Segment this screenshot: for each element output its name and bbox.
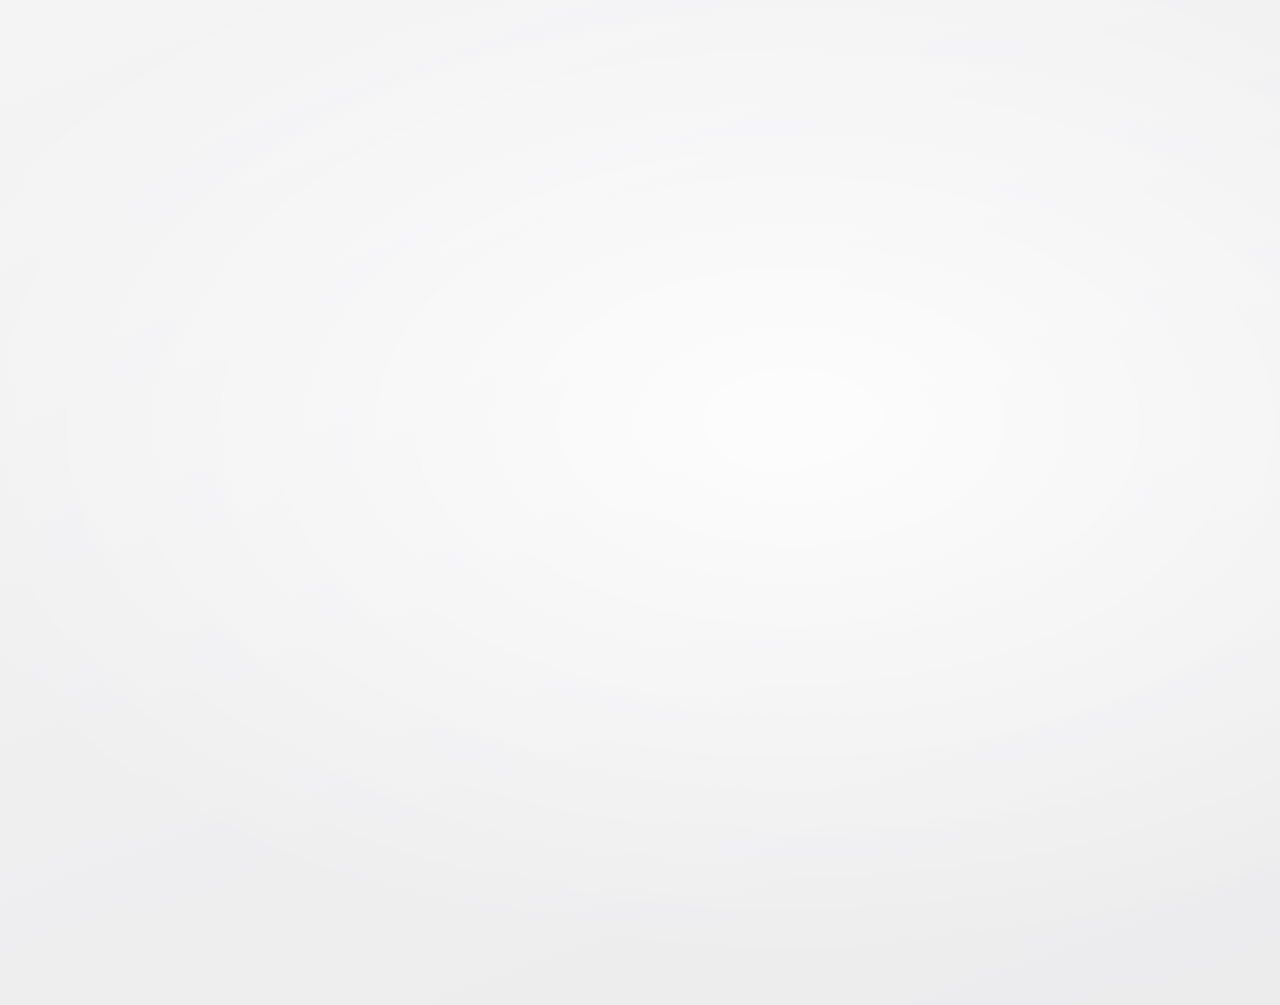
blue-note-right-line1: • Personalized xyxy=(932,660,1142,679)
banner-right-note: • Personalized Customization xyxy=(1040,95,1194,138)
banner-tagline: Extraordinary Through Technology. xyxy=(304,99,709,132)
arrow-right-icon xyxy=(1050,777,1168,818)
blue-headline-line4: Technology. xyxy=(760,859,1180,900)
poster-bullet-note: • Personalized Customization xyxy=(120,604,450,670)
blue-headline-line2: Professionalism xyxy=(760,777,1180,818)
blue-headline-line3: Extraordinary Through xyxy=(760,818,1180,859)
blue-headline-line2-text: Professionalism xyxy=(760,776,1026,819)
blue-card-back: • Layer by layer protection • Personaliz… xyxy=(736,614,1185,900)
blue-headline-line1: Crafting Beauty With xyxy=(760,736,1180,777)
blue-note-left-line1: • Layer by layer xyxy=(760,660,892,679)
banner-right-note-line2: Customization xyxy=(1040,116,1194,138)
business-card-brand-line: EXTRAORDINARY THROUGH TECHNOLOGY. xyxy=(765,282,914,311)
blue-card-note-left: • Layer by layer protection xyxy=(760,660,892,698)
blue-card-headline: Crafting Beauty With Professionalism Ext… xyxy=(760,736,1180,900)
business-card-contact-block: +1 123 5555 666 78 @CLICK KANGTAI.COM.CN xyxy=(1054,282,1161,326)
arrow-right-icon xyxy=(70,784,302,856)
kangtai-monogram-icon xyxy=(736,338,1185,532)
brand-line-2: THROUGH TECHNOLOGY. xyxy=(765,297,914,312)
banner-left-note: Layer by layer protection xyxy=(0,97,128,140)
contact-handle: @CLICK xyxy=(1054,297,1161,312)
brand-line-1: EXTRAORDINARY xyxy=(765,282,914,297)
card-caption-cutting-edge: CUTTING-EDGE xyxy=(763,482,847,494)
poster-bullet-line2: Customization xyxy=(120,637,450,670)
business-card-front: EXTRAORDINARY THROUGH TECHNOLOGY. +1 123… xyxy=(736,237,1185,532)
poster-headline-line2: onalism xyxy=(0,784,570,856)
poster-glass-artwork xyxy=(0,154,273,372)
contact-phone: +1 123 5555 666 78 xyxy=(1054,282,1161,297)
poster-headline-line1: g Beauty With xyxy=(0,712,570,784)
poster-headline-line2-text: onalism xyxy=(0,781,36,858)
poster-bullet-line1: • Personalized xyxy=(120,604,450,637)
blue-note-right-line2: Customization xyxy=(932,679,1142,698)
banner-wave-pattern xyxy=(0,0,1194,165)
card-caption-technology-leaders: TECHNOLOGY LEADERS xyxy=(903,482,1035,494)
mockup-stage: Layer by layer protection Extraordinary … xyxy=(0,0,1280,1005)
blue-note-left-line2: protection xyxy=(760,679,892,698)
large-poster: • Personalized Customization g Beauty Wi… xyxy=(0,152,570,907)
poster-headline: g Beauty With onalism dinary Through ogy… xyxy=(0,712,570,907)
banner-strip: Layer by layer protection Extraordinary … xyxy=(0,0,1194,165)
blue-card-note-right: • Personalized Customization xyxy=(932,660,1142,698)
card-caption-leaders: LEADERS xyxy=(1110,482,1162,494)
contact-website: KANGTAI.COM.CN xyxy=(1054,311,1161,326)
poster-headline-line3: dinary Through xyxy=(0,856,570,907)
banner-right-note-line1: • Personalized xyxy=(1040,95,1194,117)
